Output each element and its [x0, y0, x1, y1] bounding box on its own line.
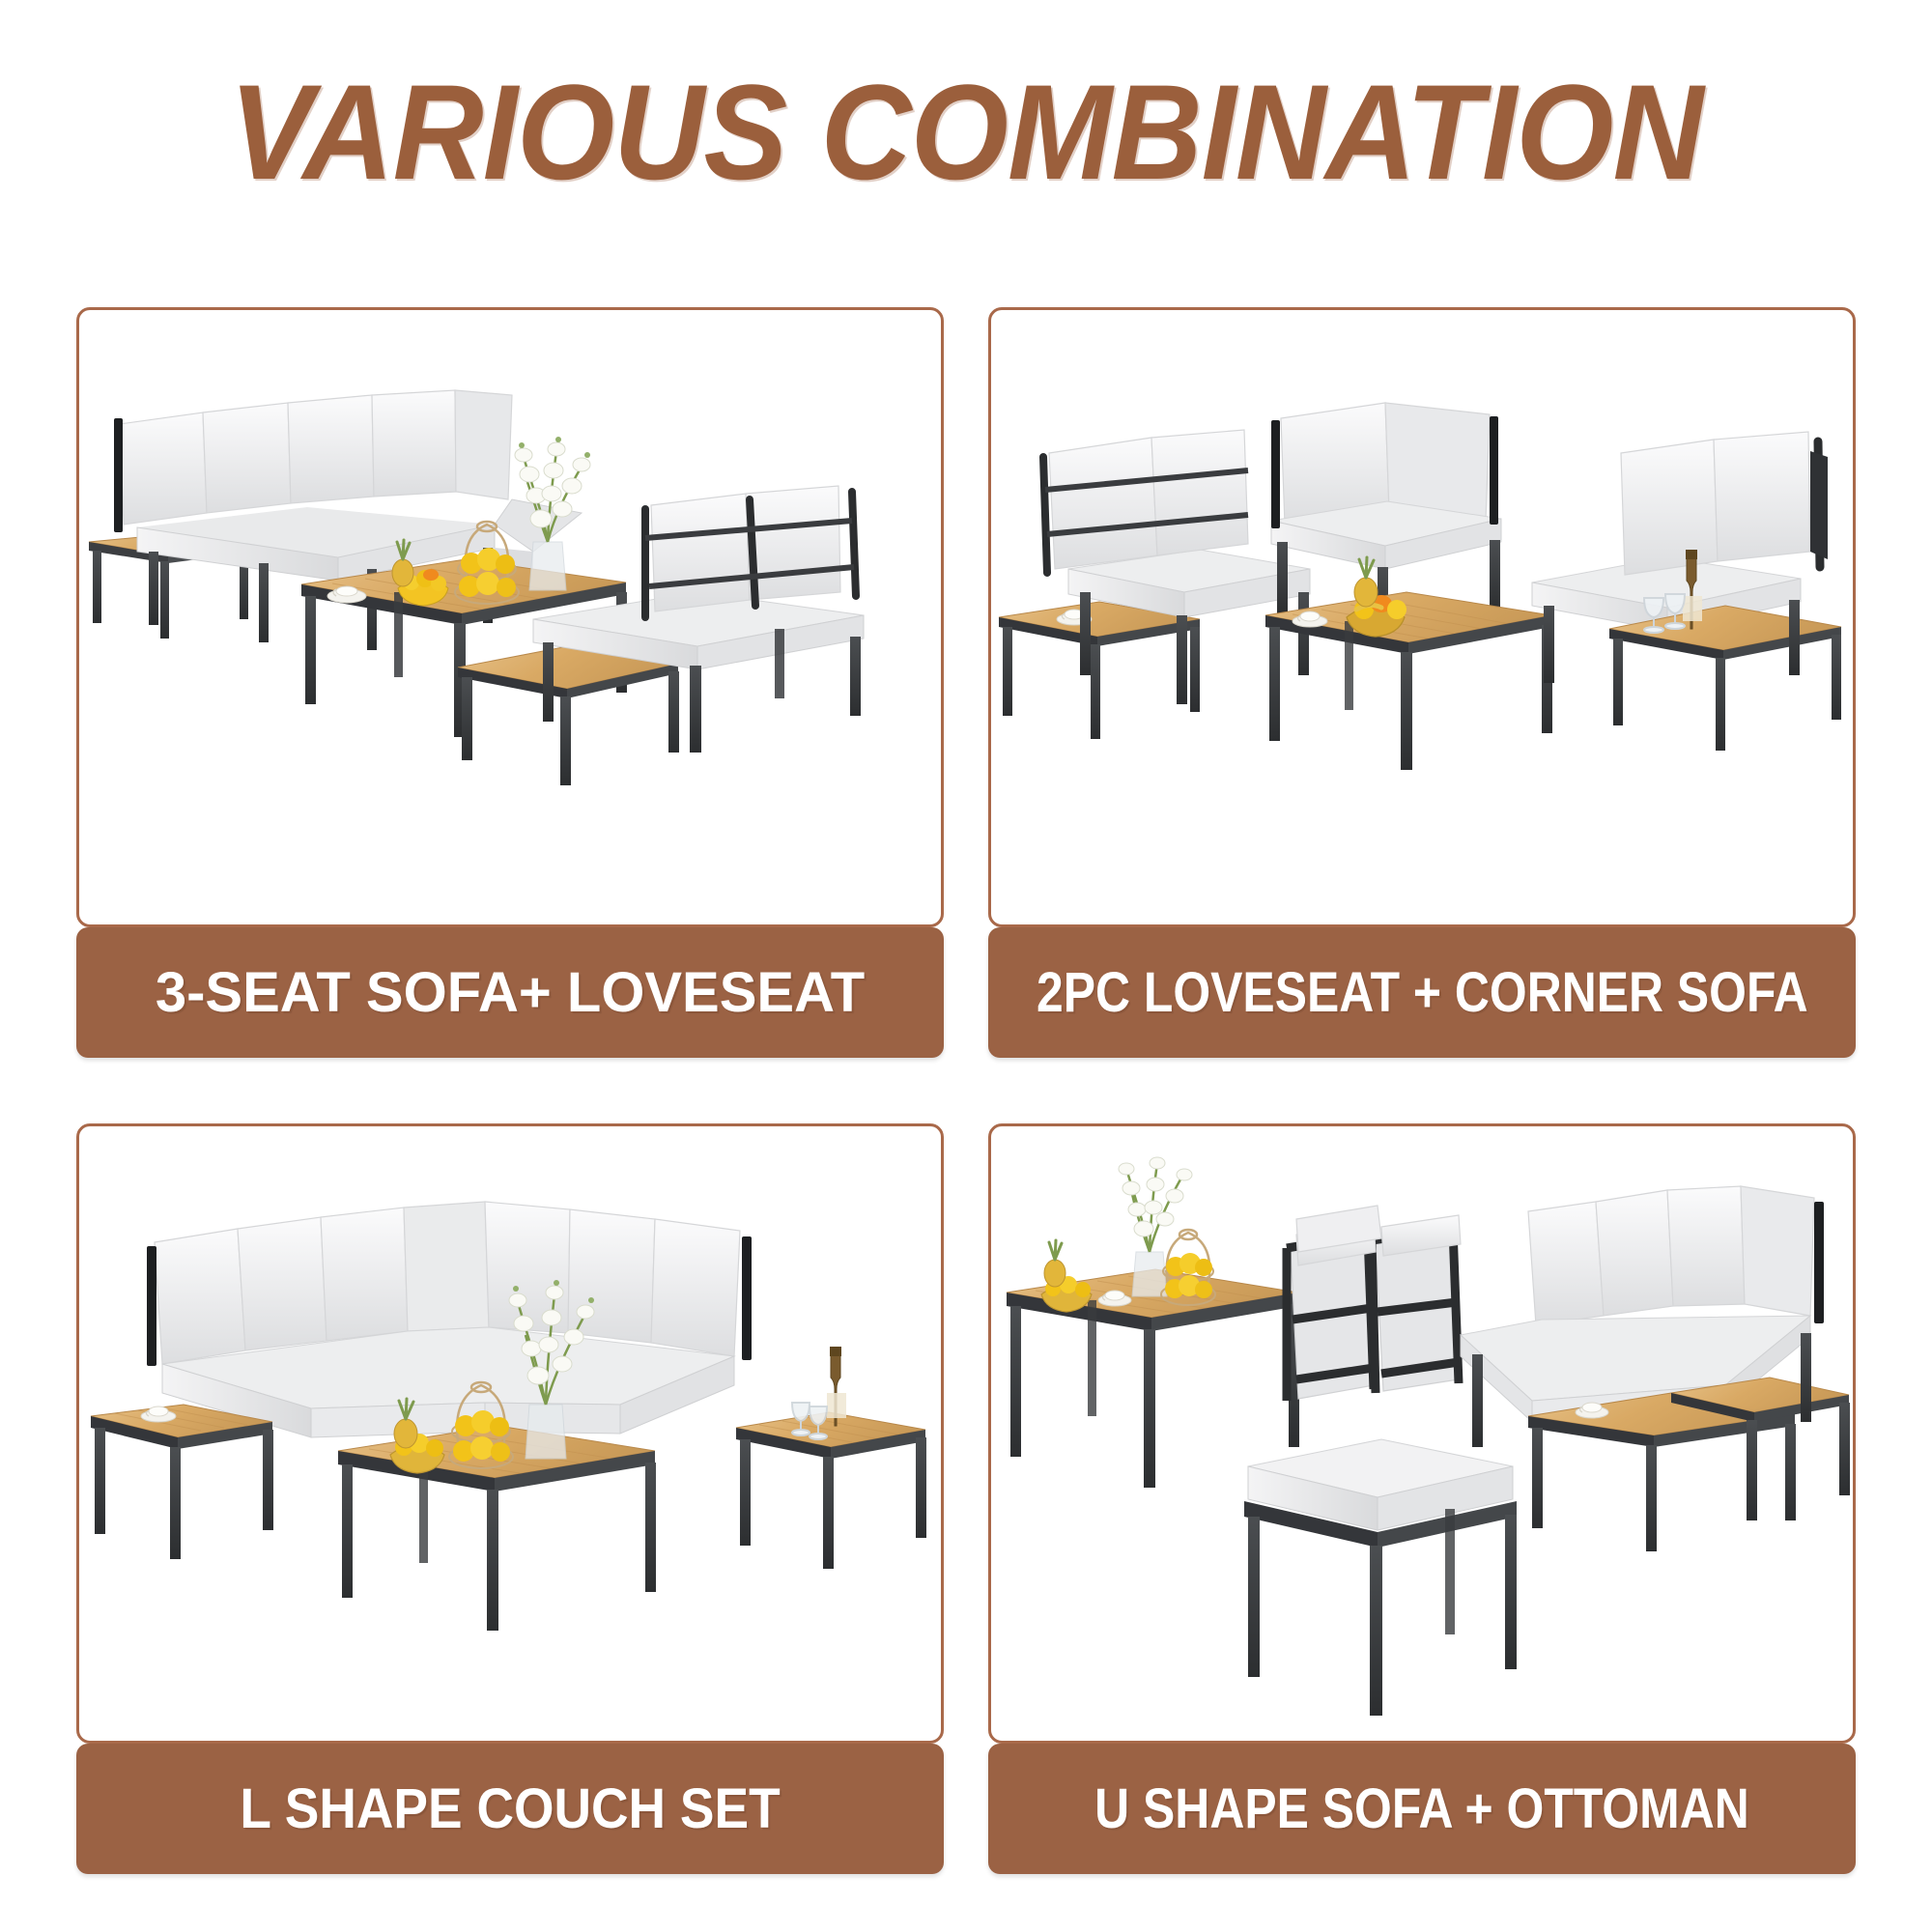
l-shape-couch-set-scene — [79, 1126, 947, 1747]
card-2-frame — [988, 307, 1856, 927]
left-loveseat — [999, 430, 1310, 739]
card-4-caption-label: U SHAPE SOFA + OTTOMAN — [1094, 1780, 1749, 1838]
card-4-caption-bar: U SHAPE SOFA + OTTOMAN — [988, 1744, 1856, 1874]
l-shape-sectional — [147, 1202, 752, 1437]
pineapple-basket — [1041, 1240, 1092, 1312]
card-3-caption-label: L SHAPE COUCH SET — [240, 1780, 780, 1838]
wine-bottle — [827, 1347, 846, 1426]
card-1-caption-label: 3-SEAT SOFA+ LOVESEAT — [156, 964, 865, 1022]
page-title: VARIOUS COMBINATION — [68, 60, 1864, 205]
tiered-fruit-stand — [1161, 1230, 1215, 1305]
card-2-caption-label: 2PC LOVESEAT + CORNER SOFA — [1037, 964, 1808, 1022]
card-1-frame — [76, 307, 944, 927]
u-shape-sofa-and-ottoman-scene — [991, 1126, 1859, 1747]
card-1-caption-bar: 3-SEAT SOFA+ LOVESEAT — [76, 927, 944, 1058]
right-loveseat — [1532, 432, 1841, 751]
ottoman — [1244, 1439, 1517, 1716]
card-3-frame — [76, 1123, 944, 1744]
infographic-page: VARIOUS COMBINATION — [0, 0, 1932, 1932]
left-side-table — [91, 1405, 273, 1559]
card-4-frame — [988, 1123, 1856, 1744]
card-2-caption-bar: 2PC LOVESEAT + CORNER SOFA — [988, 927, 1856, 1058]
three-seat-sofa-and-loveseat-scene — [79, 310, 947, 930]
right-side-table — [736, 1347, 926, 1569]
two-piece-loveseat-and-corner-sofa-scene — [991, 310, 1859, 930]
card-3-caption-bar: L SHAPE COUCH SET — [76, 1744, 944, 1874]
